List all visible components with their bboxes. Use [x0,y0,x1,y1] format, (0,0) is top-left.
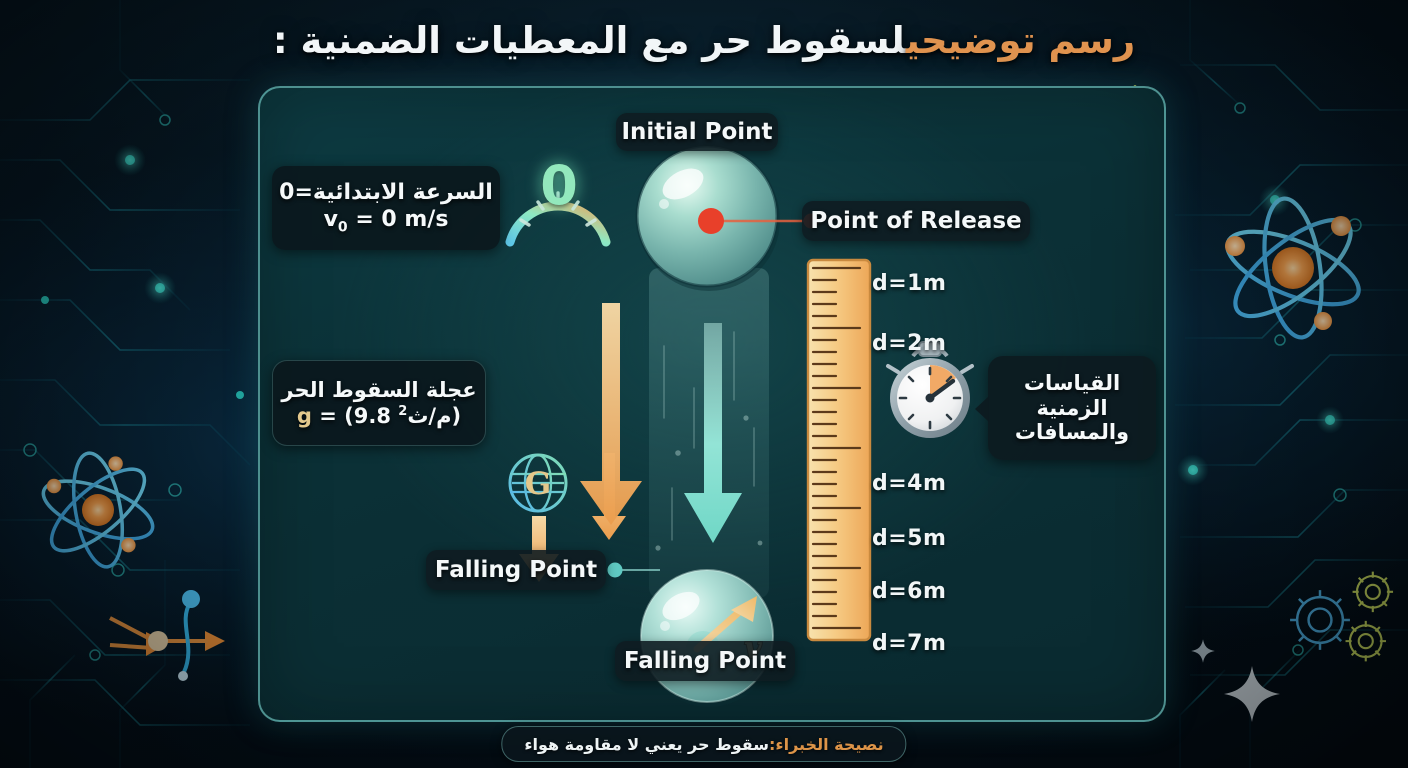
velocity-subscript: 0 [338,220,348,236]
bubble-tail [975,396,989,422]
label-falling-point-left: Falling Point [426,550,606,590]
expert-tip-caption: نصيحة الخبراء: سقوط حر يعني لا مقاومة هو… [501,726,906,762]
ruler-label-5: d=5m [872,526,946,551]
particle-collision-icon [110,590,225,681]
title-accent: رسم توضيحي [906,19,1135,62]
gravity-value: = (9.8 م/ث [312,404,452,428]
gears-icon [1290,572,1393,662]
globe-letter: G [525,466,551,502]
title-bar: رسم توضيحيلسقوط حر مع المعطيات الضمنية : [0,8,1408,72]
measurements-line-3: والمسافات [1015,420,1129,445]
measurements-line-1: القياسات [1024,371,1120,396]
ruler-label-1: d=1m [872,271,946,296]
atom-icon [36,449,160,570]
ruler-icon [808,260,870,640]
ruler-label-2: d=2m [872,331,946,356]
initial-velocity-box: السرعة الابتدائية=0 v0 = 0 m/s [272,166,500,250]
ruler-label-7: d=7m [872,631,946,656]
measurements-line-2: الزمنية [1036,396,1107,421]
diagram-panel: v [258,86,1166,722]
gravity-formula: g = (9.8 م/ث2) [297,404,461,428]
label-initial-point: Initial Point [616,113,778,151]
page-title: رسم توضيحيلسقوط حر مع المعطيات الضمنية : [273,19,1135,62]
measurements-bubble: القياسات الزمنية والمسافات [988,356,1156,460]
sparkle-icon [1191,639,1215,663]
stopwatch-icon [888,342,972,438]
velocity-value: = 0 m/s [348,207,449,232]
gravity-arabic: عجلة السقوط الحر [281,378,476,402]
ruler-label-6: d=6m [872,579,946,604]
caption-accent: نصيحة الخبراء: [769,735,884,754]
gravity-symbol: g [297,404,312,428]
gravity-exponent: 2 [398,404,407,419]
gravity-arrow-large [580,303,642,525]
gravity-close: ) [452,404,462,428]
title-rest: لسقوط حر مع المعطيات الضمنية [301,19,906,62]
infographic-canvas: رسم توضيحيلسقوط حر مع المعطيات الضمنية : [0,0,1408,768]
label-falling-point-bottom: Falling Point [615,641,795,681]
velocity-symbol: v [324,207,338,232]
falling-sphere: v [641,570,776,707]
initial-velocity-formula: v0 = 0 m/s [324,207,449,235]
gravity-box: عجلة السقوط الحر g = (9.8 م/ث2) [272,360,486,446]
title-colon: : [273,19,301,62]
gauge-value: 0 [529,150,589,220]
label-point-of-release: Point of Release [802,201,1030,241]
ruler-label-4: d=4m [872,471,946,496]
caption-rest: سقوط حر يعني لا مقاومة هواء [524,735,769,754]
globe-icon: G [510,455,566,511]
initial-velocity-arabic: السرعة الابتدائية=0 [279,180,493,205]
atom-icon [1218,195,1368,341]
